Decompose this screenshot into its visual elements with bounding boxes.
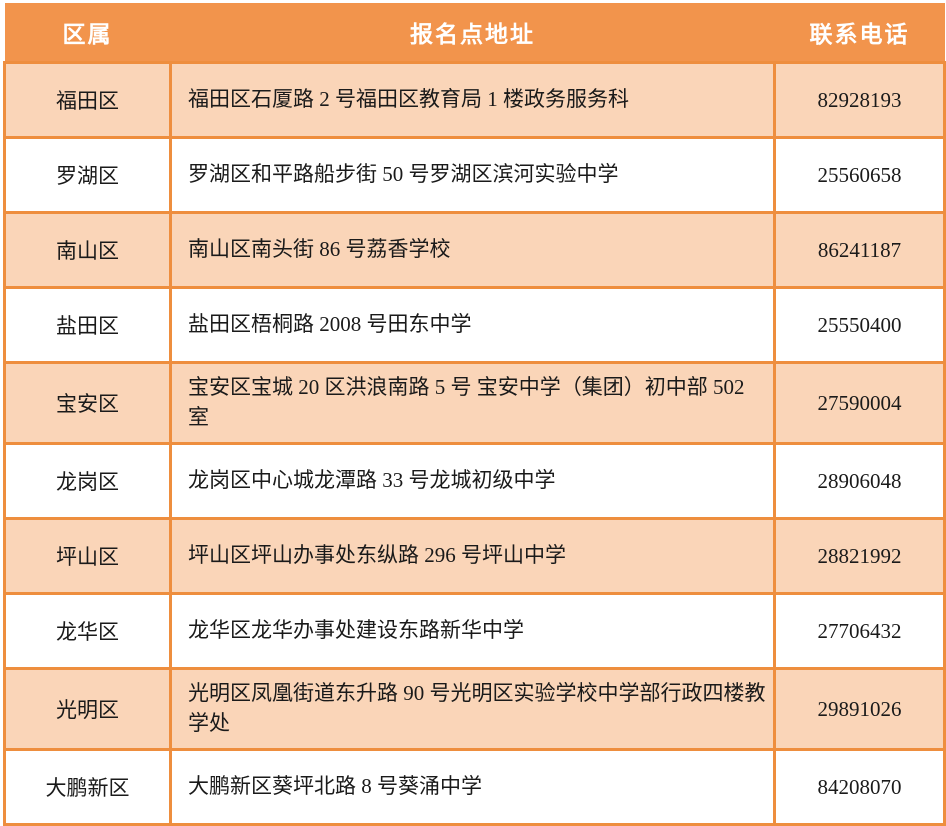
column-header-phone: 联系电话 <box>775 3 945 63</box>
cell-address: 坪山区坪山办事处东纵路 296 号坪山中学 <box>171 519 775 594</box>
cell-phone: 86241187 <box>775 213 945 288</box>
table-row: 福田区福田区石厦路 2 号福田区教育局 1 楼政务服务科82928193 <box>5 63 945 138</box>
registration-points-table: 区属 报名点地址 联系电话 福田区福田区石厦路 2 号福田区教育局 1 楼政务服… <box>3 3 946 826</box>
cell-phone: 27590004 <box>775 363 945 444</box>
cell-district: 光明区 <box>5 669 171 750</box>
cell-phone: 27706432 <box>775 594 945 669</box>
table-row: 南山区南山区南头街 86 号荔香学校86241187 <box>5 213 945 288</box>
cell-address: 光明区凤凰街道东升路 90 号光明区实验学校中学部行政四楼教学处 <box>171 669 775 750</box>
table-row: 罗湖区罗湖区和平路船步街 50 号罗湖区滨河实验中学25560658 <box>5 138 945 213</box>
cell-district: 坪山区 <box>5 519 171 594</box>
cell-district: 龙华区 <box>5 594 171 669</box>
cell-phone: 28821992 <box>775 519 945 594</box>
cell-address: 罗湖区和平路船步街 50 号罗湖区滨河实验中学 <box>171 138 775 213</box>
column-header-address: 报名点地址 <box>171 3 775 63</box>
page-root: 区属 报名点地址 联系电话 福田区福田区石厦路 2 号福田区教育局 1 楼政务服… <box>0 3 946 690</box>
table-header-row: 区属 报名点地址 联系电话 <box>5 3 945 63</box>
cell-district: 盐田区 <box>5 288 171 363</box>
table-row: 光明区光明区凤凰街道东升路 90 号光明区实验学校中学部行政四楼教学处29891… <box>5 669 945 750</box>
cell-address: 宝安区宝城 20 区洪浪南路 5 号 宝安中学（集团）初中部 502 室 <box>171 363 775 444</box>
table-row: 龙岗区龙岗区中心城龙潭路 33 号龙城初级中学28906048 <box>5 444 945 519</box>
cell-phone: 28906048 <box>775 444 945 519</box>
table-header: 区属 报名点地址 联系电话 <box>5 3 945 63</box>
column-header-district: 区属 <box>5 3 171 63</box>
cell-address: 大鹏新区葵坪北路 8 号葵涌中学 <box>171 750 775 825</box>
table-row: 盐田区盐田区梧桐路 2008 号田东中学25550400 <box>5 288 945 363</box>
cell-address: 盐田区梧桐路 2008 号田东中学 <box>171 288 775 363</box>
cell-district: 龙岗区 <box>5 444 171 519</box>
cell-address: 南山区南头街 86 号荔香学校 <box>171 213 775 288</box>
cell-phone: 25550400 <box>775 288 945 363</box>
table-row: 大鹏新区大鹏新区葵坪北路 8 号葵涌中学84208070 <box>5 750 945 825</box>
table-row: 坪山区坪山区坪山办事处东纵路 296 号坪山中学28821992 <box>5 519 945 594</box>
cell-district: 大鹏新区 <box>5 750 171 825</box>
cell-address: 龙华区龙华办事处建设东路新华中学 <box>171 594 775 669</box>
cell-address: 福田区石厦路 2 号福田区教育局 1 楼政务服务科 <box>171 63 775 138</box>
table-body: 福田区福田区石厦路 2 号福田区教育局 1 楼政务服务科82928193罗湖区罗… <box>5 63 945 825</box>
cell-district: 南山区 <box>5 213 171 288</box>
cell-address: 龙岗区中心城龙潭路 33 号龙城初级中学 <box>171 444 775 519</box>
table-row: 龙华区龙华区龙华办事处建设东路新华中学27706432 <box>5 594 945 669</box>
table-row: 宝安区宝安区宝城 20 区洪浪南路 5 号 宝安中学（集团）初中部 502 室2… <box>5 363 945 444</box>
cell-district: 罗湖区 <box>5 138 171 213</box>
cell-phone: 82928193 <box>775 63 945 138</box>
cell-phone: 84208070 <box>775 750 945 825</box>
cell-phone: 29891026 <box>775 669 945 750</box>
cell-district: 宝安区 <box>5 363 171 444</box>
cell-phone: 25560658 <box>775 138 945 213</box>
cell-district: 福田区 <box>5 63 171 138</box>
